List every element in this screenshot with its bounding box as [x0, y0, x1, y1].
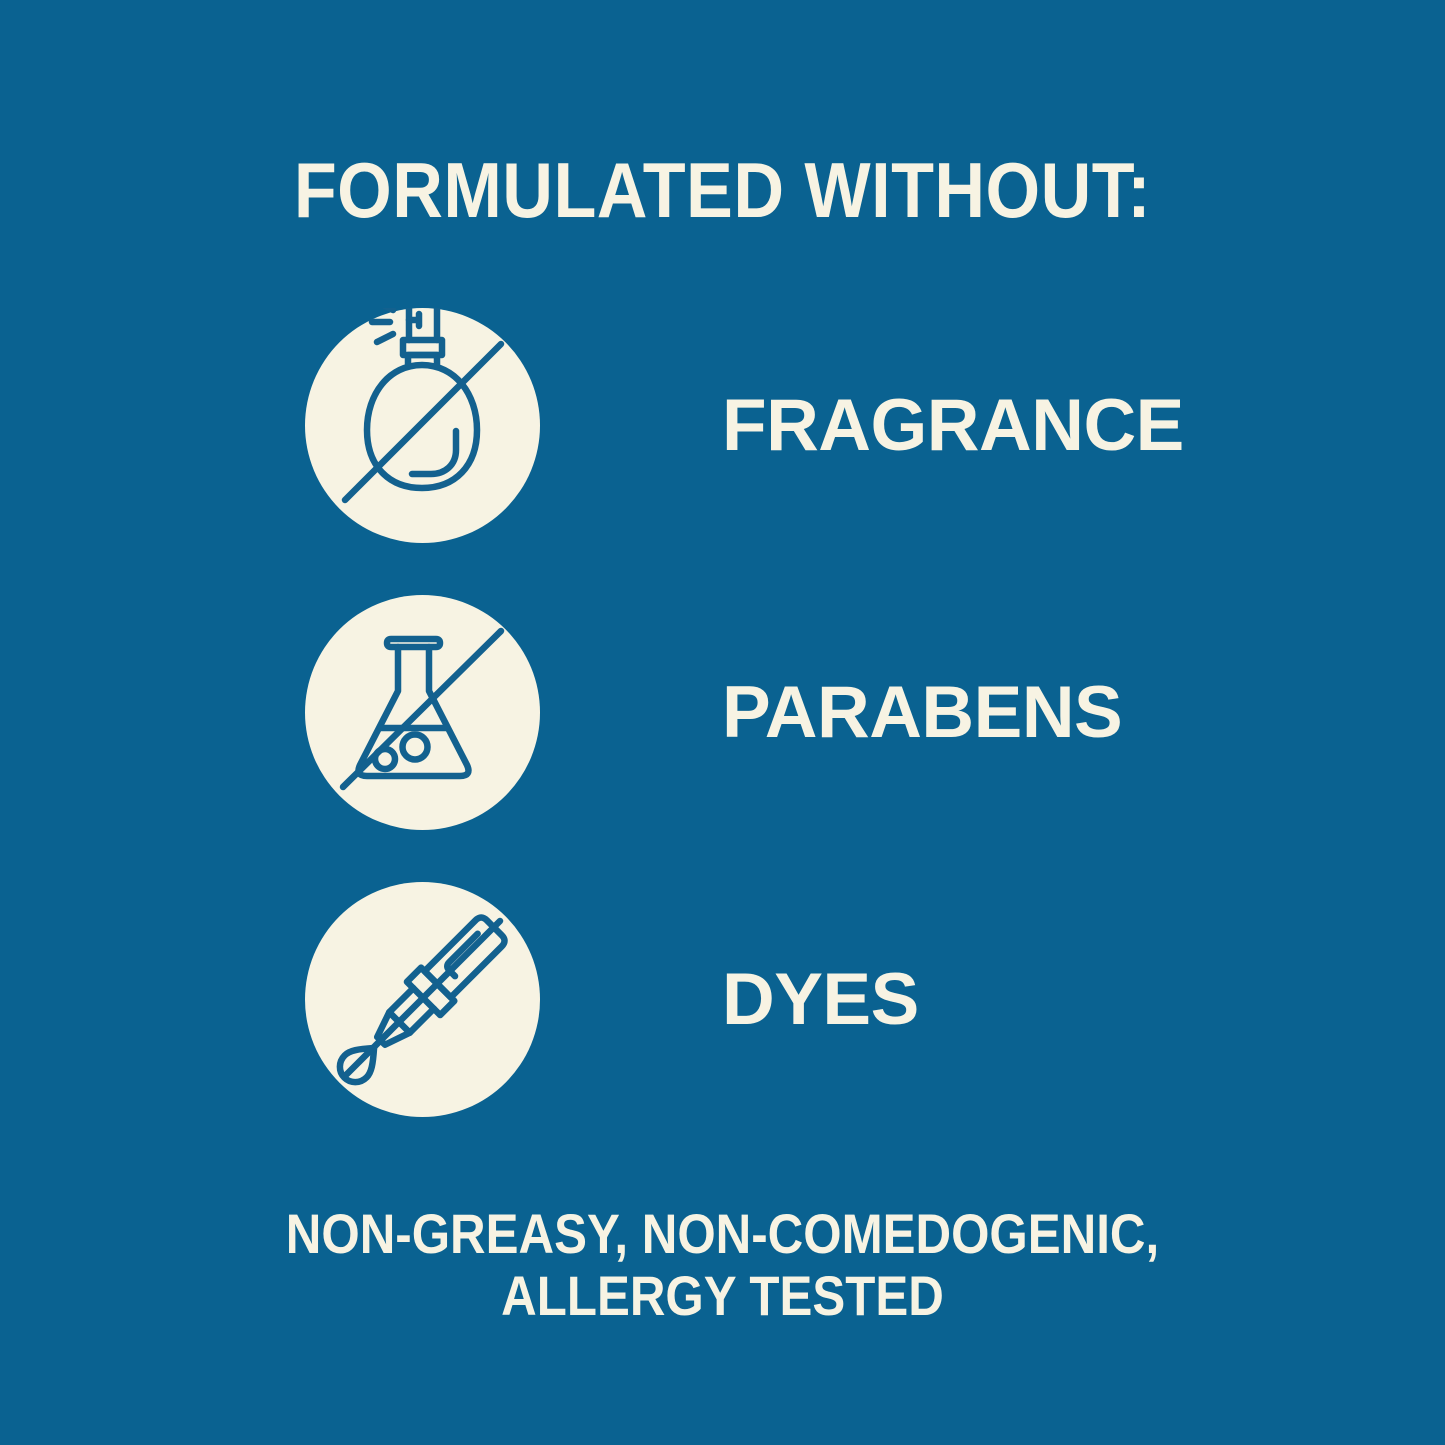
- no-dyes-dropper-icon: [305, 882, 540, 1117]
- footer-line-1: NON-GREASY, NON-COMEDOGENIC,: [87, 1203, 1359, 1265]
- list-item-label: PARABENS: [722, 595, 1122, 830]
- no-parabens-flask-icon: [305, 595, 540, 830]
- list-item: FRAGRANCE: [0, 308, 1445, 543]
- list-item-label: DYES: [722, 882, 919, 1117]
- claims-list: FRAGRANCE: [0, 308, 1445, 1169]
- footer-claims: NON-GREASY, NON-COMEDOGENIC, ALLERGY TES…: [87, 1203, 1359, 1327]
- list-item-label: FRAGRANCE: [722, 308, 1184, 543]
- formulated-without-poster: FORMULATED WITHOUT:: [0, 0, 1445, 1445]
- page-title: FORMULATED WITHOUT:: [72, 148, 1373, 232]
- list-item: PARABENS: [0, 595, 1445, 830]
- footer-line-2: ALLERGY TESTED: [87, 1265, 1359, 1327]
- list-item: DYES: [0, 882, 1445, 1117]
- no-fragrance-spray-bottle-icon: [305, 308, 540, 543]
